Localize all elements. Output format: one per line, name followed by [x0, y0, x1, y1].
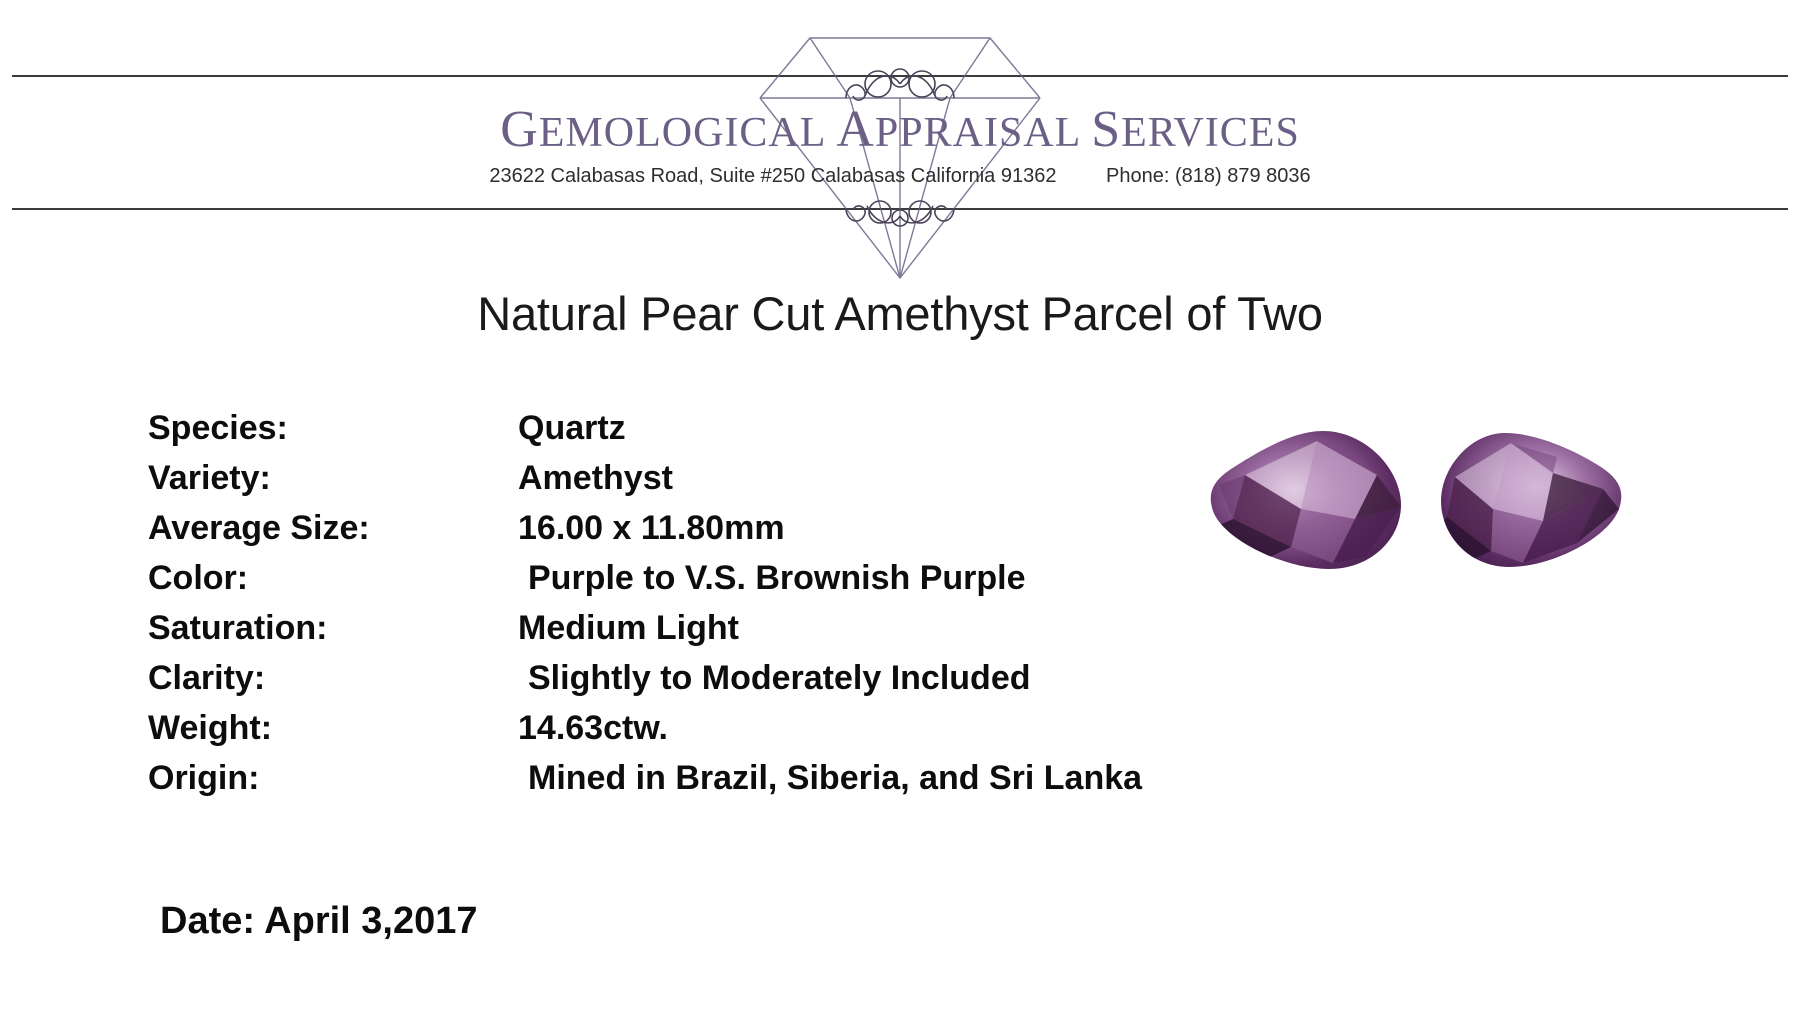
spec-value-average-size: 16.00 x 11.80mm — [518, 503, 1142, 553]
company-phone: Phone: (818) 879 8036 — [1106, 165, 1311, 187]
spec-value-clarity: Slightly to Moderately Included — [518, 653, 1142, 703]
gemstone-photo — [1205, 423, 1635, 583]
spec-value-saturation: Medium Light — [518, 603, 1142, 653]
spec-value-origin: Mined in Brazil, Siberia, and Sri Lanka — [518, 753, 1142, 803]
spec-value-variety: Amethyst — [518, 453, 1142, 503]
page-title: Natural Pear Cut Amethyst Parcel of Two — [0, 286, 1800, 341]
spec-label-color: Color: — [148, 553, 518, 603]
company-name-word-2: PPRAISAL — [875, 110, 1080, 156]
company-name-initial-a: A — [836, 101, 875, 158]
contact-line: 23622 Calabasas Road, Suite #250 Calabas… — [0, 165, 1800, 188]
company-name-word-3: ERVICES — [1121, 110, 1300, 156]
table-row: Weight: 14.63ctw. — [148, 703, 1142, 753]
spec-label-saturation: Saturation: — [148, 603, 518, 653]
spec-label-clarity: Clarity: — [148, 653, 518, 703]
header-rule-bottom — [12, 208, 1788, 210]
table-row: Variety: Amethyst — [148, 453, 1142, 503]
company-name: GEMOLOGICAL APPRAISAL SERVICES — [0, 104, 1800, 156]
spec-label-variety: Variety: — [148, 453, 518, 503]
gemstone-left — [1205, 423, 1415, 583]
report-body: Species: Quartz Variety: Amethyst Averag… — [0, 403, 1800, 873]
table-row: Origin: Mined in Brazil, Siberia, and Sr… — [148, 753, 1142, 803]
company-name-initial-s: S — [1091, 101, 1121, 158]
table-row: Average Size: 16.00 x 11.80mm — [148, 503, 1142, 553]
company-address: 23622 Calabasas Road, Suite #250 Calabas… — [489, 165, 1056, 187]
specification-rows: Species: Quartz Variety: Amethyst Averag… — [148, 403, 1142, 803]
letterhead: GEMOLOGICAL APPRAISAL SERVICES 23622 Cal… — [0, 0, 1800, 248]
spec-label-average-size: Average Size: — [148, 503, 518, 553]
header-rule-top — [12, 75, 1788, 77]
gemstone-right — [1431, 423, 1635, 583]
spec-label-origin: Origin: — [148, 753, 518, 803]
table-row: Color: Purple to V.S. Brownish Purple — [148, 553, 1142, 603]
spec-value-weight: 14.63ctw. — [518, 703, 1142, 753]
company-name-word-1: EMOLOGICAL — [539, 110, 825, 156]
report-date: Date: April 3,2017 — [160, 900, 478, 943]
spec-value-species: Quartz — [518, 403, 1142, 453]
spec-label-species: Species: — [148, 403, 518, 453]
brand-block: GEMOLOGICAL APPRAISAL SERVICES 23622 Cal… — [0, 104, 1800, 188]
table-row: Species: Quartz — [148, 403, 1142, 453]
table-row: Clarity: Slightly to Moderately Included — [148, 653, 1142, 703]
spec-value-color: Purple to V.S. Brownish Purple — [518, 553, 1142, 603]
specification-table: Species: Quartz Variety: Amethyst Averag… — [148, 403, 1142, 803]
table-row: Saturation: Medium Light — [148, 603, 1142, 653]
spec-label-weight: Weight: — [148, 703, 518, 753]
company-name-initial-g: G — [500, 101, 539, 158]
